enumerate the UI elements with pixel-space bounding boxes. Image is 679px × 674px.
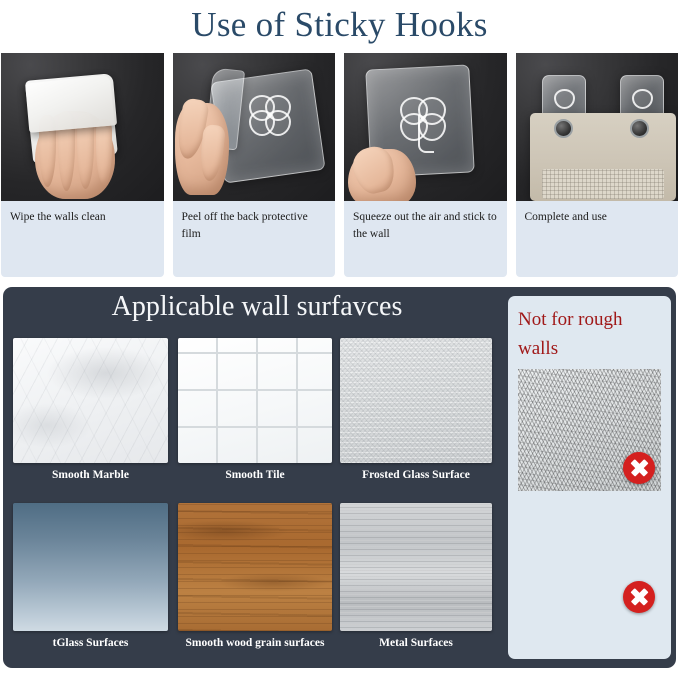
not-for-rough-walls-heading: Not for rough walls xyxy=(518,305,661,363)
step-card-2: Peel off the back protective film xyxy=(173,53,336,277)
rough-plaster-wall-photo xyxy=(518,369,661,491)
step-caption: Complete and use xyxy=(516,201,679,277)
hook-flower-icon xyxy=(265,110,291,136)
applicable-surfaces-grid: Smooth Marble Smooth Tile Frosted Glass … xyxy=(13,338,491,660)
surface-label: Metal Surfaces xyxy=(340,637,492,649)
step-photo-wipe-the-walls-clean xyxy=(1,53,164,201)
page-title: Use of Sticky Hooks xyxy=(0,0,679,50)
surface-label: Frosted Glass Surface xyxy=(340,469,492,481)
x-mark-icon xyxy=(623,581,655,613)
steps-strip: Wipe the walls clean Peel off the back p… xyxy=(0,53,679,277)
surface-cell-smooth-tile xyxy=(178,338,332,463)
applicable-surfaces-heading: Applicable wall surfavces xyxy=(22,291,492,323)
surface-label: tGlass Surfaces xyxy=(13,637,168,649)
grommet-icon xyxy=(630,119,649,138)
cleaning-cloth-front-icon xyxy=(25,73,117,132)
not-for-rough-walls-card: Not for rough walls xyxy=(508,296,671,659)
surface-swatch-metal xyxy=(340,503,492,631)
surface-swatch-marble xyxy=(13,338,168,463)
step-card-3: Squeeze out the air and stick to the wal… xyxy=(344,53,507,277)
step-caption: Peel off the back protective film xyxy=(173,201,336,277)
surface-swatch-wood xyxy=(178,503,332,631)
surface-swatch-glass xyxy=(13,503,168,631)
step-caption: Wipe the walls clean xyxy=(1,201,164,277)
surface-swatch-frosted-glass xyxy=(340,338,492,463)
surface-cell-metal-surfaces xyxy=(340,503,492,631)
hook-flower-icon xyxy=(632,89,653,109)
surface-label: Smooth wood grain surfaces xyxy=(178,637,332,649)
rough-brick-wall-photo xyxy=(518,498,661,620)
mesh-pocket-icon xyxy=(542,169,664,199)
surface-cell-frosted-glass-surface xyxy=(340,338,492,463)
step-card-4: Complete and use xyxy=(516,53,679,277)
step-photo-complete-and-use xyxy=(516,53,679,201)
x-mark-icon xyxy=(623,452,655,484)
step-photo-peel-off-the-back-protective-film xyxy=(173,53,336,201)
surface-cell-smooth-wood-grain-surfaces xyxy=(178,503,332,631)
step-photo-squeeze-out-the-air-and-stick-to-the-wall xyxy=(344,53,507,201)
surface-label: Smooth Tile xyxy=(178,469,332,481)
grommet-icon xyxy=(554,119,573,138)
surface-cell-tglass-surfaces xyxy=(13,503,168,631)
surface-cell-smooth-marble xyxy=(13,338,168,463)
hook-flower-icon xyxy=(554,89,575,109)
surface-label: Smooth Marble xyxy=(13,469,168,481)
hook-arm-icon xyxy=(418,115,434,153)
step-card-1: Wipe the walls clean xyxy=(1,53,164,277)
step-caption: Squeeze out the air and stick to the wal… xyxy=(344,201,507,277)
surface-swatch-tile xyxy=(178,338,332,463)
